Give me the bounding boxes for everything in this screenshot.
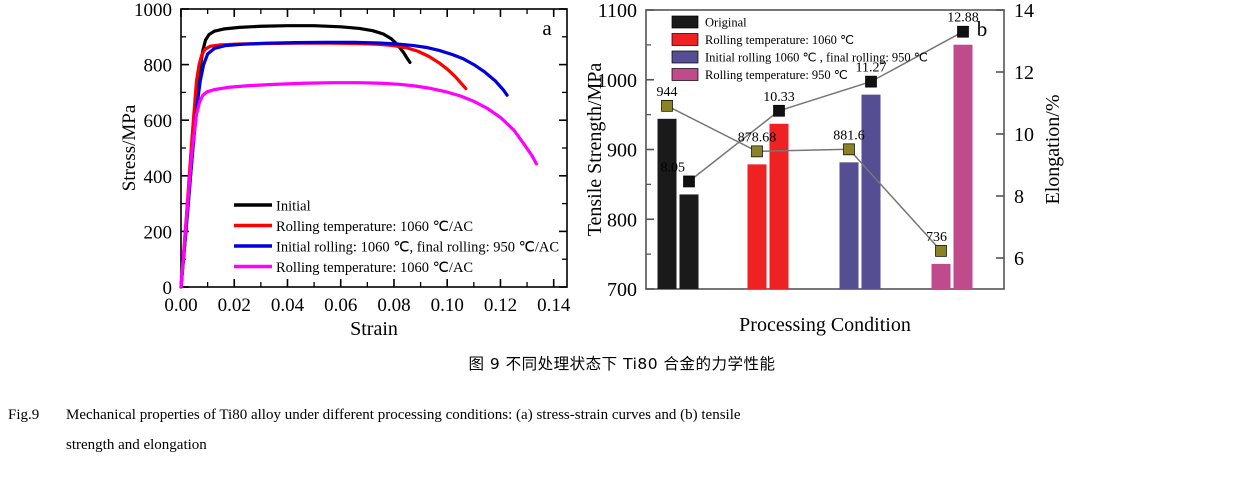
panel-b-ytick-label: 900: [607, 140, 637, 162]
panel-a-ytick-label: 800: [144, 56, 173, 77]
panel-b-group: 7008009001000110068101214Processing Cond…: [584, 0, 1064, 336]
panel-b-elongation-marker-1[interactable]: [774, 105, 785, 116]
caption-english-line2: strength and elongation: [8, 430, 1236, 460]
panel-a-legend-label-0: Initial: [276, 199, 311, 215]
panel-b-bar-elongation-2[interactable]: [862, 95, 881, 289]
panel-a-ytick-label: 400: [144, 167, 173, 188]
panel-a-tag: a: [542, 16, 552, 40]
panel-b-elongation-value-1: 10.33: [763, 90, 795, 105]
panel-b-strength-marker-3[interactable]: [936, 245, 947, 256]
panel-a-xtick-label: 0.04: [271, 295, 305, 316]
panel-b-strength-value-0: 944: [657, 85, 678, 100]
panel-a-xtick-label: 0.06: [324, 295, 357, 316]
panel-b-legend-swatch-3: [672, 69, 698, 81]
panel-b-strength-value-3: 736: [926, 230, 947, 245]
panel-b-legend-swatch-2: [672, 51, 698, 63]
panel-b-ytick-label: 700: [607, 279, 637, 301]
panel-b-bar-elongation-1[interactable]: [770, 124, 789, 289]
panel-a-xtick-label: 0.10: [431, 295, 464, 316]
panel-b-bar-elongation-3[interactable]: [954, 45, 973, 289]
panel-b-bar-strength-1[interactable]: [748, 164, 767, 289]
panel-b-legend-label-1: Rolling temperature: 1060 ℃: [705, 33, 854, 47]
panel-b-elongation-marker-0[interactable]: [684, 176, 695, 187]
panel-a-xtick-label: 0.02: [218, 295, 251, 316]
panel-b-xaxis-label: Processing Condition: [739, 314, 911, 336]
panel-b-yaxis-label: Tensile Strength/MPa: [584, 63, 606, 237]
panel-b-strength-value-2: 881.6: [833, 128, 865, 143]
panel-a-ytick-label: 200: [144, 222, 173, 243]
panel-b-y2tick-label: 6: [1014, 248, 1024, 270]
panel-a-xtick-label: 0.08: [377, 295, 410, 316]
panel-a: 020040060080010000.000.020.040.060.080.1…: [119, 0, 571, 340]
panel-a-legend-label-3: Rolling temperature: 1060 ℃/AC: [276, 260, 473, 276]
panel-b-strength-marker-0[interactable]: [662, 100, 673, 111]
panel-b-y2tick-label: 12: [1014, 62, 1034, 84]
panel-b-strength-marker-1[interactable]: [752, 146, 763, 157]
caption-english: Fig.9Mechanical properties of Ti80 alloy…: [8, 400, 1236, 460]
caption-english-line1: Mechanical properties of Ti80 alloy unde…: [66, 407, 741, 423]
panel-b-y2tick-label: 8: [1014, 186, 1024, 208]
panel-b-bar-strength-0[interactable]: [658, 119, 677, 289]
panel-b-y2axis-label: Elongation/%: [1042, 95, 1064, 205]
panel-b-y2tick-label: 14: [1014, 0, 1034, 22]
panel-b-elongation-value-3: 12.88: [947, 11, 979, 26]
panel-a-xtick-label: 0.12: [484, 295, 517, 316]
panel-b-elongation-value-0: 8.05: [661, 160, 686, 175]
panel-b-bar-strength-3[interactable]: [932, 264, 951, 289]
panel-b-ytick-label: 800: [607, 209, 637, 231]
panel-b-y2tick-label: 10: [1014, 124, 1034, 146]
panel-b-bar-elongation-0[interactable]: [680, 194, 699, 289]
panel-b-tag: b: [977, 17, 988, 41]
panel-b-legend-label-0: Original: [705, 16, 747, 30]
panel-a-yaxis-label: Stress/MPa: [119, 104, 140, 191]
panel-a-xtick-label: 0.14: [537, 295, 571, 316]
panel-a-legend-label-1: Rolling temperature: 1060 ℃/AC: [276, 219, 473, 235]
figure-svg: 020040060080010000.000.020.040.060.080.1…: [0, 0, 1244, 340]
panel-a-xaxis-label: Strain: [350, 318, 398, 340]
figure-panels: 020040060080010000.000.020.040.060.080.1…: [0, 0, 1244, 340]
panel-a-ytick-label: 600: [144, 111, 173, 132]
caption-chinese: 图 9 不同处理状态下 Ti80 合金的力学性能: [0, 352, 1244, 374]
panel-b-legend-swatch-0: [672, 16, 698, 28]
panel-b-legend-label-3: Rolling temperature: 950 ℃: [705, 68, 848, 82]
panel-b-legend-swatch-1: [672, 34, 698, 46]
caption-figure-label: Fig.9: [8, 400, 66, 430]
panel-b-strength-value-1: 878.68: [738, 130, 777, 145]
panel-b-elongation-marker-3[interactable]: [958, 26, 969, 37]
panel-a-legend-label-2: Initial rolling: 1060 ℃, final rolling: …: [276, 240, 559, 256]
panel-b-ytick-label: 1100: [598, 0, 637, 22]
panel-a-xtick-label: 0.00: [164, 295, 197, 316]
panel-b-strength-marker-2[interactable]: [844, 144, 855, 155]
panel-b-bar-strength-2[interactable]: [840, 162, 859, 289]
panel-a-ytick-label: 1000: [134, 0, 172, 21]
panel-b-elongation-marker-2[interactable]: [866, 76, 877, 87]
panel-b-legend-label-2: Initial rolling 1060 ℃ , final rolling: …: [705, 51, 928, 65]
